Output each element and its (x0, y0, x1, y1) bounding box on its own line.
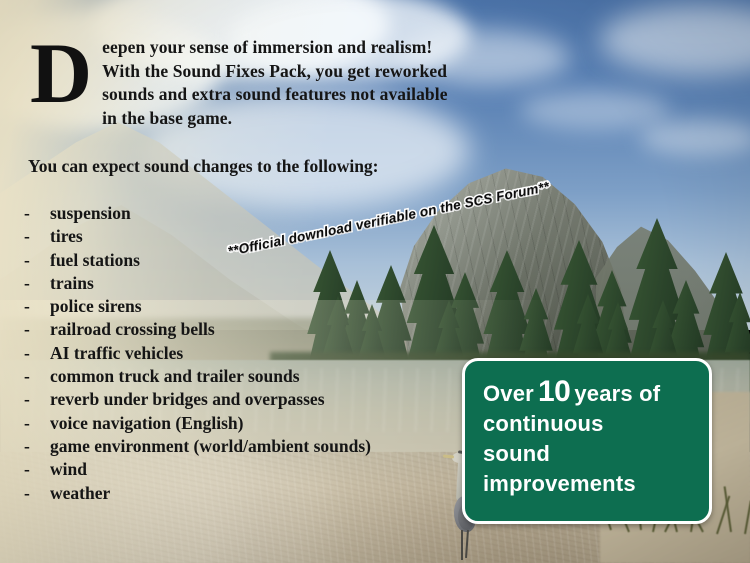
lead-in-text: You can expect sound changes to the foll… (28, 155, 379, 177)
sign-line-1: Over10years of (483, 379, 693, 409)
bullet-dash: - (24, 365, 50, 388)
bullet-dash: - (24, 318, 50, 341)
feature-label: police sirens (50, 295, 142, 318)
feature-label: trains (50, 272, 94, 295)
feature-label: railroad crossing bells (50, 318, 215, 341)
feature-list-item: -weather (24, 482, 371, 505)
sign-line-2: continuous (483, 409, 693, 439)
bullet-dash: - (24, 482, 50, 505)
drop-cap: D (30, 38, 92, 109)
sign-line-4: improvements (483, 469, 693, 499)
feature-list-item: -suspension (24, 202, 371, 225)
feature-label: voice navigation (English) (50, 412, 244, 435)
feature-label: reverb under bridges and overpasses (50, 388, 325, 411)
bullet-dash: - (24, 202, 50, 225)
feature-list-item: -game environment (world/ambient sounds) (24, 435, 371, 458)
feature-list-item: -fuel stations (24, 249, 371, 272)
sign-over-label: Over (483, 381, 534, 406)
feature-list-item: -voice navigation (English) (24, 412, 371, 435)
promo-image: D eepen your sense of immersion and real… (0, 0, 750, 563)
feature-list-item: -AI traffic vehicles (24, 342, 371, 365)
feature-label: game environment (world/ambient sounds) (50, 435, 371, 458)
bullet-dash: - (24, 249, 50, 272)
feature-label: wind (50, 458, 87, 481)
feature-list-item: -railroad crossing bells (24, 318, 371, 341)
promo-content: D eepen your sense of immersion and real… (0, 0, 750, 563)
bullet-dash: - (24, 272, 50, 295)
sign-years-number: 10 (538, 375, 570, 408)
sign-years-label: years of (574, 381, 660, 406)
feature-list: -suspension-tires-fuel stations-trains-p… (24, 202, 371, 505)
bullet-dash: - (24, 225, 50, 248)
bullet-dash: - (24, 342, 50, 365)
feature-label: fuel stations (50, 249, 140, 272)
feature-list-item: -common truck and trailer sounds (24, 365, 371, 388)
feature-label: suspension (50, 202, 131, 225)
highway-sign-badge: Over10years of continuous sound improvem… (462, 358, 712, 524)
feature-label: common truck and trailer sounds (50, 365, 300, 388)
feature-list-item: -trains (24, 272, 371, 295)
intro-body-text: eepen your sense of immersion and realis… (30, 36, 450, 130)
feature-label: tires (50, 225, 83, 248)
sign-line-3: sound (483, 439, 693, 469)
bullet-dash: - (24, 295, 50, 318)
feature-label: weather (50, 482, 110, 505)
bullet-dash: - (24, 458, 50, 481)
bullet-dash: - (24, 435, 50, 458)
feature-list-item: -wind (24, 458, 371, 481)
bullet-dash: - (24, 388, 50, 411)
feature-list-item: -reverb under bridges and overpasses (24, 388, 371, 411)
intro-paragraph: D eepen your sense of immersion and real… (30, 36, 450, 130)
feature-label: AI traffic vehicles (50, 342, 183, 365)
feature-list-item: -police sirens (24, 295, 371, 318)
bullet-dash: - (24, 412, 50, 435)
